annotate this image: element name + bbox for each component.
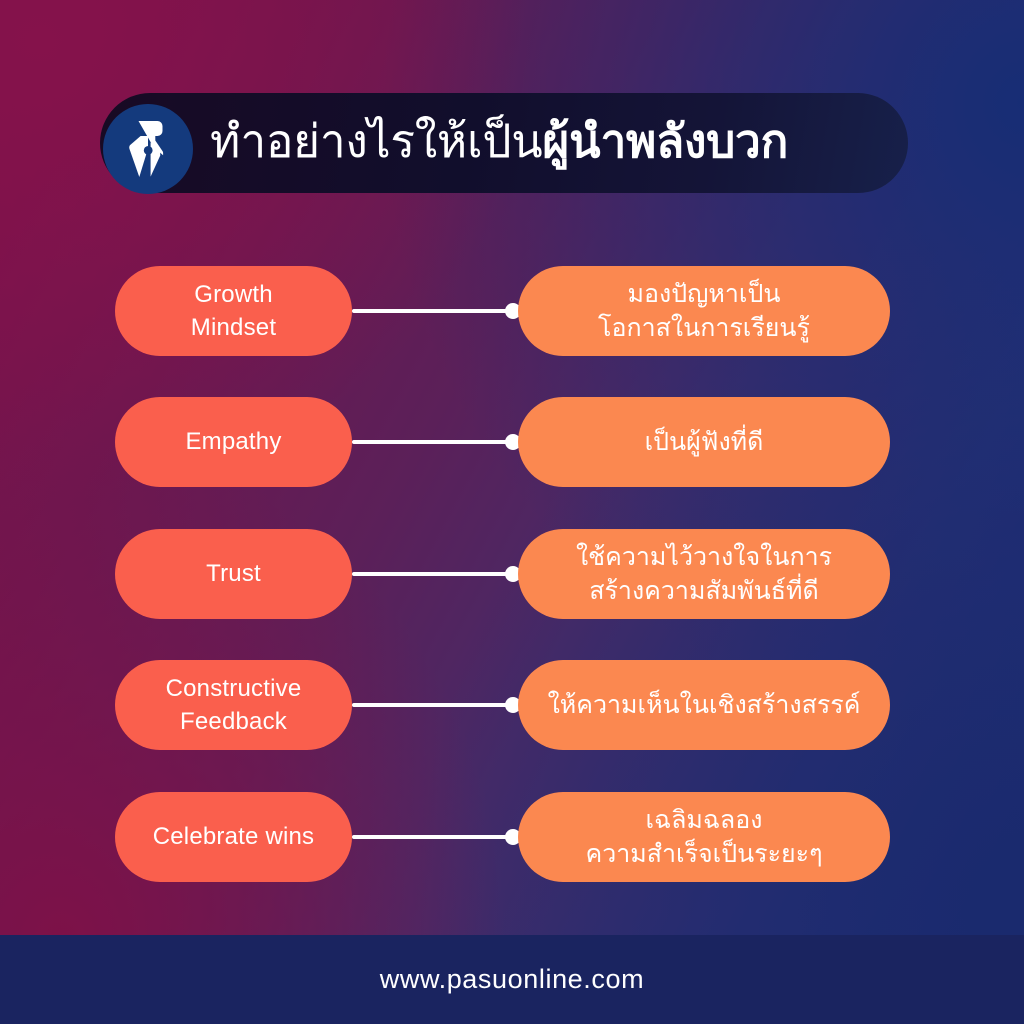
website-url[interactable]: www.pasuonline.com	[380, 964, 644, 995]
description-line1: เฉลิมฉลอง	[585, 803, 822, 838]
description-line2: ความสำเร็จเป็นระยะๆ	[585, 837, 822, 872]
connector-line	[352, 572, 518, 576]
footer-band: www.pasuonline.com	[0, 935, 1024, 1024]
list-item: Trust ใช้ความไว้วางใจในการ สร้างความสัมพ…	[0, 529, 1024, 619]
principle-label-line1: Celebrate wins	[153, 820, 315, 853]
description-line1: ใช้ความไว้วางใจในการ	[576, 540, 832, 575]
description-card-right[interactable]: ให้ความเห็นในเชิงสร้างสรรค์	[518, 660, 890, 750]
connector-line	[352, 309, 518, 313]
principle-label-line2: Mindset	[191, 311, 276, 344]
principle-card-left[interactable]: Empathy	[115, 397, 352, 487]
principle-label-line1: Growth	[191, 278, 276, 311]
connector-line	[352, 835, 518, 839]
list-item: Celebrate wins เฉลิมฉลอง ความสำเร็จเป็นร…	[0, 792, 1024, 882]
page-title: ทำอย่างไรให้เป็นผู้นำพลังบวก	[210, 117, 788, 169]
description-line1: มองปัญหาเป็น	[598, 277, 810, 312]
connector-line	[352, 440, 518, 444]
fountain-pen-nib-icon	[103, 104, 193, 194]
description-card-right[interactable]: มองปัญหาเป็น โอกาสในการเรียนรู้	[518, 266, 890, 356]
principle-label-line1: Empathy	[185, 425, 281, 458]
principle-card-left[interactable]: Constructive Feedback	[115, 660, 352, 750]
description-card-right[interactable]: เป็นผู้ฟังที่ดี	[518, 397, 890, 487]
connector-line	[352, 703, 518, 707]
list-item: Constructive Feedback ให้ความเห็นในเชิงส…	[0, 660, 1024, 750]
principle-label-line1: Trust	[206, 557, 261, 590]
page-title-regular: ทำอย่างไรให้เป็น	[210, 115, 542, 167]
header-bar: ทำอย่างไรให้เป็นผู้นำพลังบวก	[100, 93, 908, 193]
principle-card-left[interactable]: Trust	[115, 529, 352, 619]
description-card-right[interactable]: เฉลิมฉลอง ความสำเร็จเป็นระยะๆ	[518, 792, 890, 882]
description-line1: ให้ความเห็นในเชิงสร้างสรรค์	[548, 688, 861, 723]
description-line2: สร้างความสัมพันธ์ที่ดี	[576, 574, 832, 609]
principle-card-left[interactable]: Growth Mindset	[115, 266, 352, 356]
principle-label-line1: Constructive	[166, 672, 302, 705]
principle-card-left[interactable]: Celebrate wins	[115, 792, 352, 882]
list-item: Growth Mindset มองปัญหาเป็น โอกาสในการเร…	[0, 266, 1024, 356]
description-line2: โอกาสในการเรียนรู้	[598, 311, 810, 346]
list-item: Empathy เป็นผู้ฟังที่ดี	[0, 397, 1024, 487]
description-card-right[interactable]: ใช้ความไว้วางใจในการ สร้างความสัมพันธ์ที…	[518, 529, 890, 619]
infographic-poster: ทำอย่างไรให้เป็นผู้นำพลังบวก Growth Mind…	[0, 0, 1024, 1024]
description-line1: เป็นผู้ฟังที่ดี	[645, 425, 764, 460]
principle-label-line2: Feedback	[166, 705, 302, 738]
page-title-bold: ผู้นำพลังบวก	[542, 115, 788, 167]
